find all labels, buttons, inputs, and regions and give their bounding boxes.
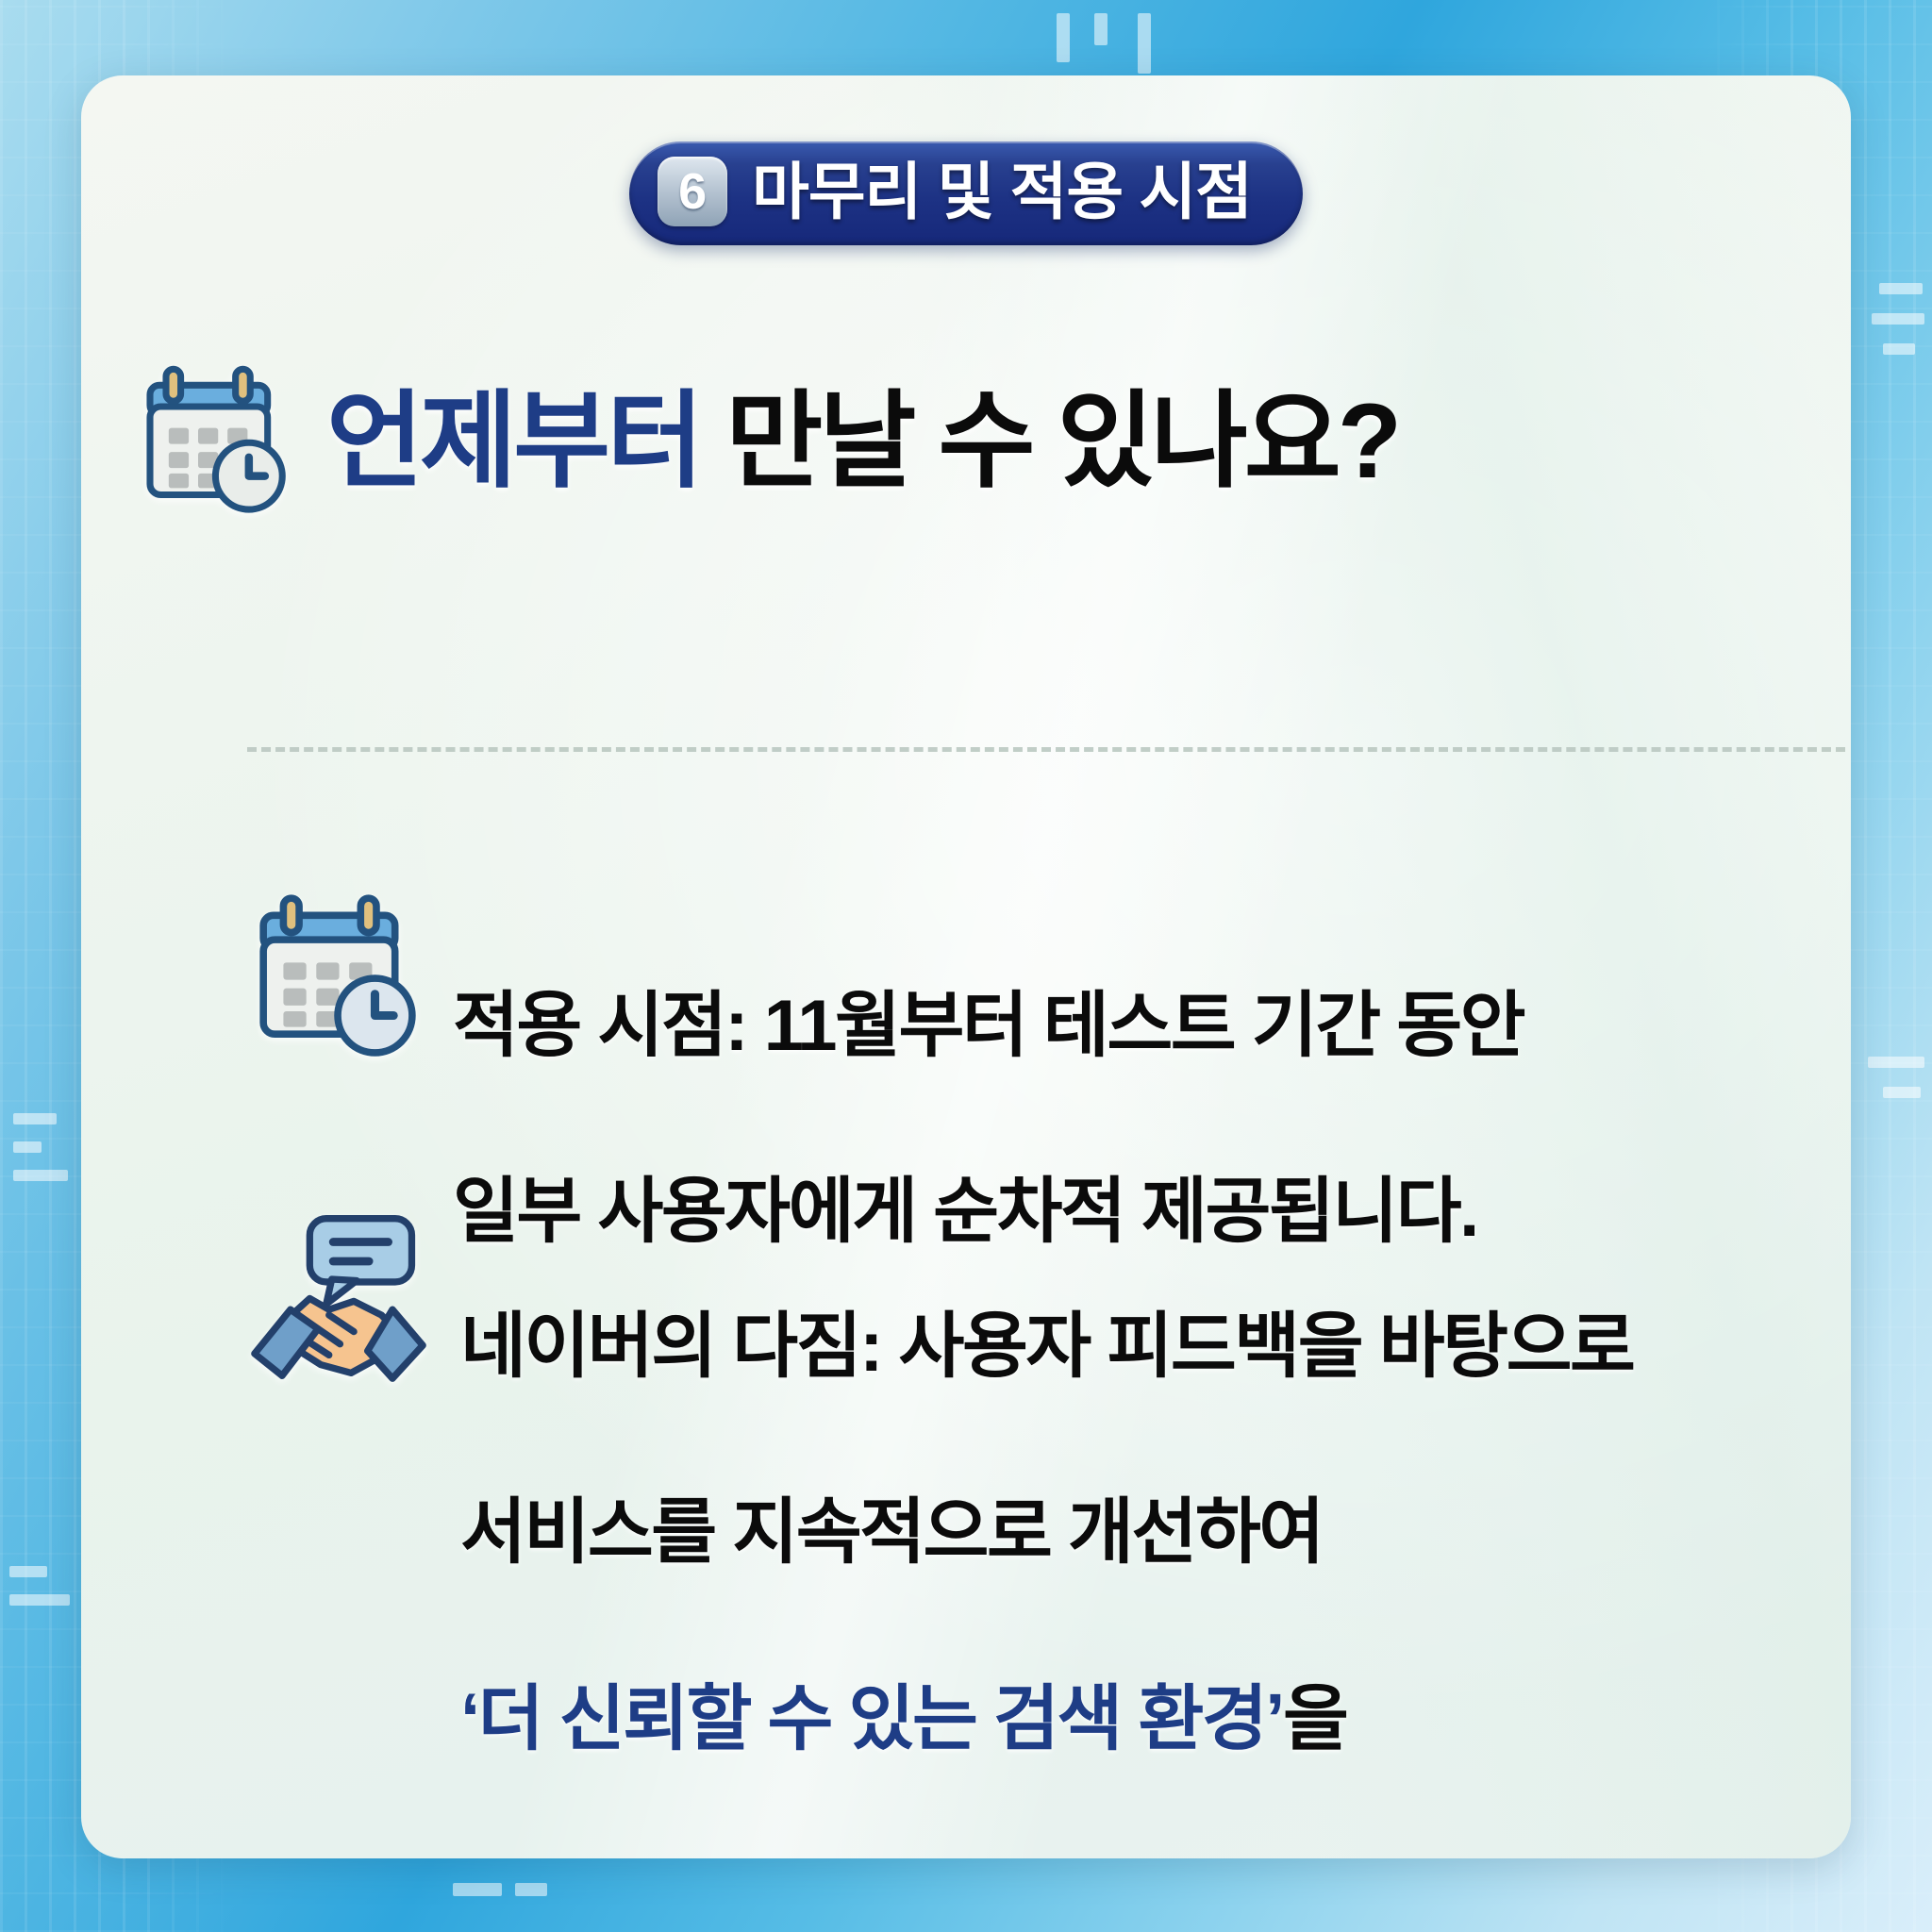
calendar-clock-icon xyxy=(134,358,294,524)
page-title: 언제부터 만날 수 있나요? xyxy=(326,389,1398,494)
handshake-chat-icon xyxy=(249,1207,428,1391)
list-item-line: 서비스를 지속적으로 개선하여 xyxy=(460,1492,1323,1573)
header-badge-wrapper: 6 마무리 및 적용 시점 xyxy=(81,142,1851,245)
list-item-line-suffix: 을 xyxy=(1283,1679,1346,1759)
section-divider xyxy=(247,747,1845,752)
step-number-chip: 6 xyxy=(658,157,727,226)
list-item-text: 적용 시점: 11월부터 테스트 기간 동안 일부 사용자에게 순차적 제공됩니… xyxy=(453,887,1524,1259)
page-title-accent: 언제부터 xyxy=(326,382,700,500)
list-item-line: 적용 시점: 11월부터 테스트 기간 동안 xyxy=(453,986,1524,1066)
list-item: 네이버의 다짐: 사용자 피드백을 바탕으로 서비스를 지속적으로 개선하여 ‘… xyxy=(249,1207,1633,1858)
page-title-row: 언제부터 만날 수 있나요? xyxy=(134,358,1398,524)
calendar-clock-icon xyxy=(249,887,421,1063)
section-badge: 6 마무리 및 적용 시점 xyxy=(629,142,1303,245)
list-item-line-accent: ‘더 신뢰할 수 있는 검색 환경’ xyxy=(460,1679,1283,1759)
list-item: 적용 시점: 11월부터 테스트 기간 동안 일부 사용자에게 순차적 제공됩니… xyxy=(249,887,1524,1259)
list-item-text: 네이버의 다짐: 사용자 피드백을 바탕으로 서비스를 지속적으로 개선하여 ‘… xyxy=(460,1207,1633,1858)
section-badge-label: 마무리 및 적용 시점 xyxy=(752,160,1252,223)
page-title-rest: 만날 수 있나요? xyxy=(700,382,1398,500)
content-card: 6 마무리 및 적용 시점 xyxy=(81,75,1851,1858)
list-item-line: 네이버의 다짐: 사용자 피드백을 바탕으로 xyxy=(460,1307,1633,1387)
